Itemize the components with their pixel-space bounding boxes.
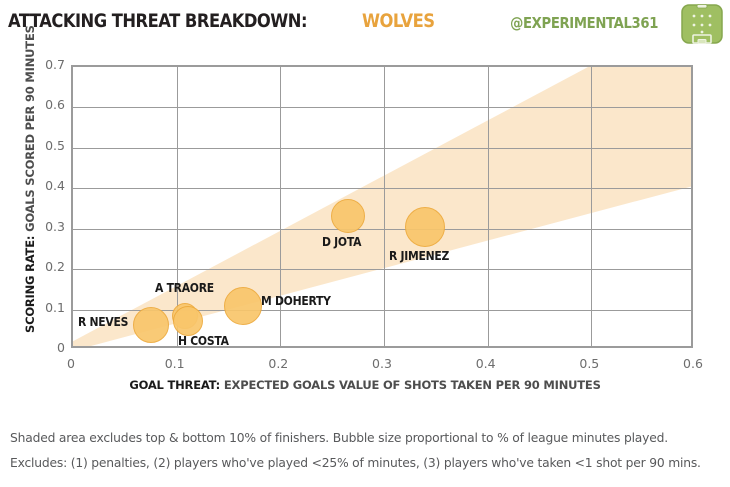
x-tick-label: 0.2 [258,356,298,371]
footnote-line-2: Excludes: (1) penalties, (2) players who… [10,450,715,475]
title-main-text: ATTACKING THREAT BREAKDOWN: [8,10,307,32]
point-label-r-jimenez: R JIMENEZ [389,249,449,263]
point-label-a-traore: A TRAORE [155,281,214,295]
page-title: ATTACKING THREAT BREAKDOWN:WOLVES [8,10,446,32]
bubble-m-doherty[interactable] [224,287,262,325]
x-axis-title: GOAL THREAT: EXPECTED GOALS VALUE OF SHO… [0,378,730,392]
y-axis-title: SCORING RATE: GOALS SCORED PER 90 MINUTE… [23,33,37,333]
x-tick-label: 0.4 [466,356,506,371]
point-label-d-jota: D JOTA [322,235,361,249]
gridline-horizontal [73,229,691,230]
y-axis-title-rest: GOALS SCORED PER 90 MINUTES [23,25,37,232]
x-tick-label: 0.6 [673,356,713,371]
gridline-horizontal [73,148,691,149]
footnotes: Shaded area excludes top & bottom 10% of… [10,425,726,475]
gridline-horizontal [73,310,691,311]
x-tick-label: 0 [51,356,91,371]
x-axis-title-bold: GOAL THREAT: [129,378,220,392]
x-tick-label: 0.3 [362,356,402,371]
footnote-line-1: Shaded area excludes top & bottom 10% of… [10,425,715,450]
plot-area [71,65,693,348]
author-handle: @EXPERIMENTAL361 [510,14,658,32]
gridline-horizontal [73,107,691,108]
gridline-vertical [591,67,592,346]
title-team-text: WOLVES [362,10,435,32]
gridline-vertical [488,67,489,346]
bubble-d-jota[interactable] [331,199,365,233]
bubble-h-costa[interactable] [173,306,203,336]
y-tick-label: 0 [29,340,65,355]
bubble-r-neves[interactable] [133,307,169,343]
gridline-horizontal [73,269,691,270]
bubble-chart: 00.10.20.30.40.50.60.7 00.10.20.30.40.50… [0,48,730,420]
shaded-band [73,67,691,346]
football-pitch-icon [680,3,724,45]
header-bar: ATTACKING THREAT BREAKDOWN:WOLVES @EXPER… [0,0,730,48]
point-label-r-neves: R NEVES [78,315,128,329]
gridline-horizontal [73,188,691,189]
point-label-m-doherty: M DOHERTY [261,294,331,308]
gridline-vertical [384,67,385,346]
x-tick-label: 0.5 [569,356,609,371]
x-axis-title-rest: EXPECTED GOALS VALUE OF SHOTS TAKEN PER … [224,378,601,392]
y-axis-title-bold: SCORING RATE: [23,236,37,333]
x-tick-label: 0.1 [155,356,195,371]
point-label-h-costa: H COSTA [178,334,229,348]
